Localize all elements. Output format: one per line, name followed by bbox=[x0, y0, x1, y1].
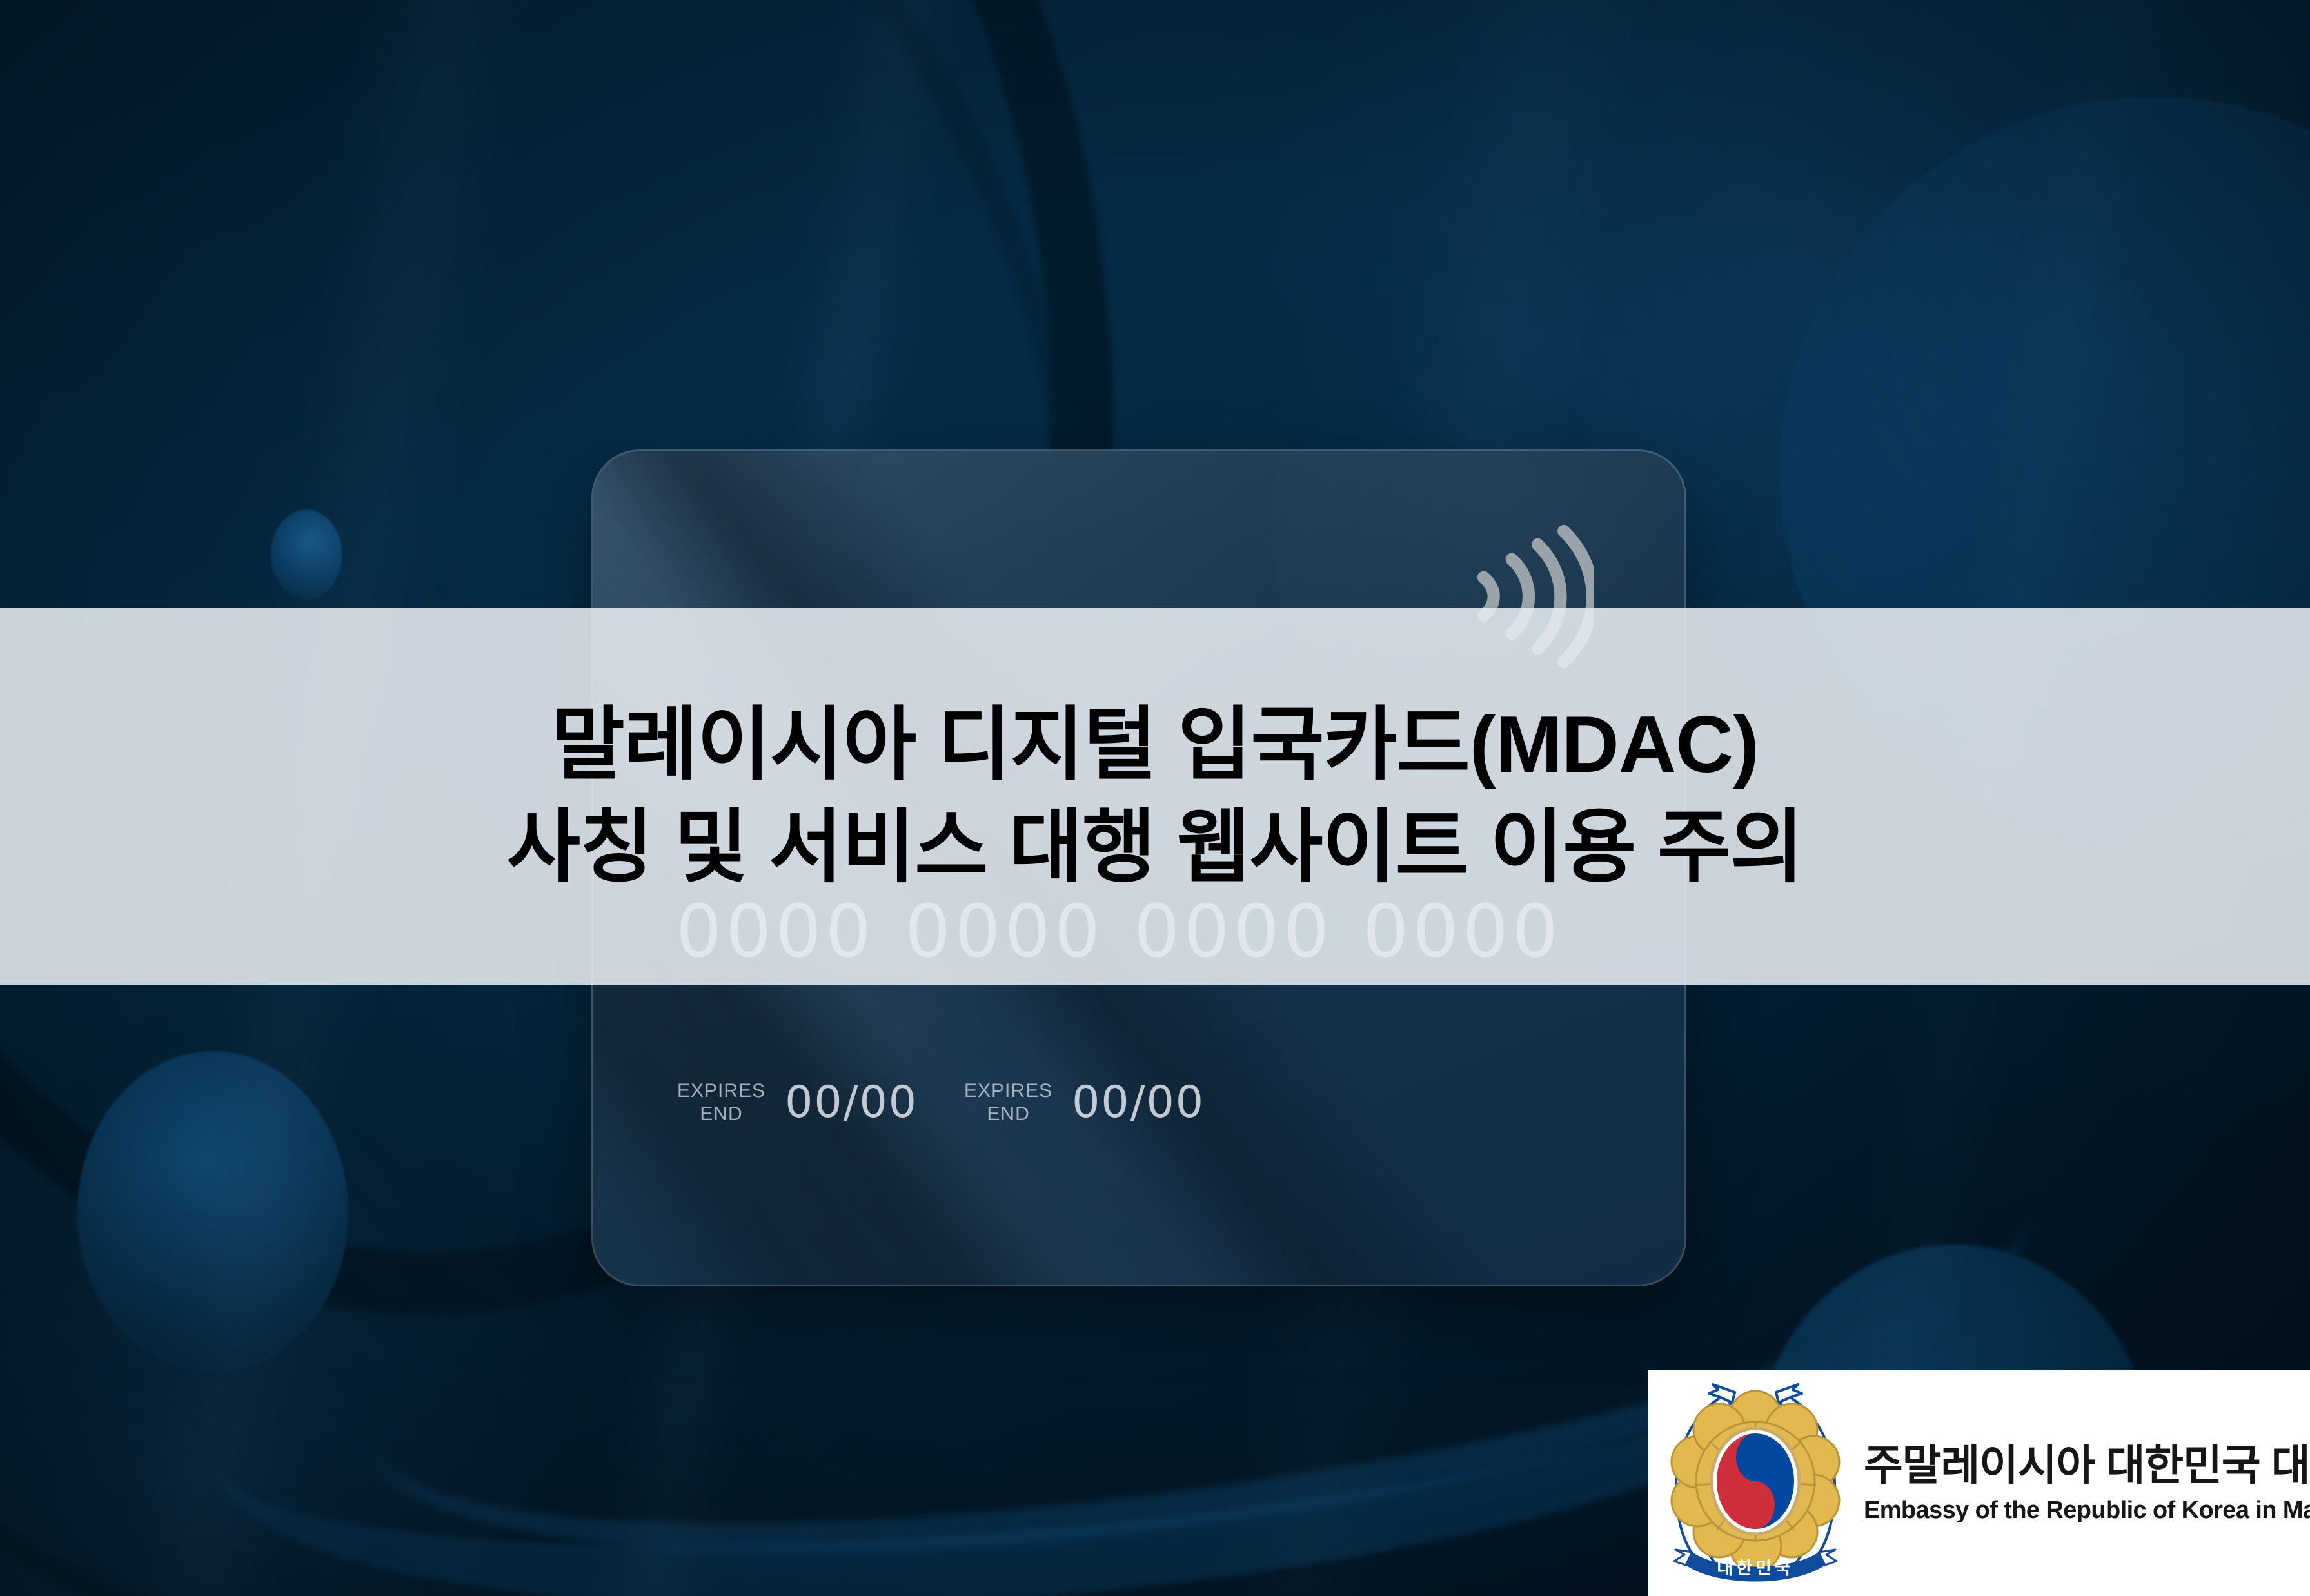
card-expiry-block: EXPIRES END 00/00 bbox=[964, 1077, 1205, 1128]
card-expiry-label-line2: END bbox=[964, 1103, 1052, 1125]
svg-text:대한민국: 대한민국 bbox=[1717, 1559, 1793, 1578]
card-expiry-label-line1: EXPIRES bbox=[677, 1079, 765, 1102]
card-expiry-row: EXPIRES END 00/00 EXPIRES END 00/00 bbox=[677, 1077, 1205, 1128]
card-expiry-value: 00/00 bbox=[785, 1077, 918, 1128]
banner-image: 0000000000000000 EXPIRES END 00/00 EXPIR… bbox=[0, 0, 2310, 1596]
embassy-title-ko: 주말레이시아 대한민국 대사관 bbox=[1864, 1444, 2310, 1486]
korea-national-emblem-icon: 대한민국 bbox=[1659, 1377, 1852, 1590]
card-expiry-label: EXPIRES END bbox=[964, 1079, 1052, 1125]
title-band: 말레이시아 디지털 입국카드(MDAC) 사칭 및 서비스 대행 웹사이트 이용… bbox=[0, 608, 2310, 985]
card-expiry-label-line1: EXPIRES bbox=[964, 1079, 1052, 1102]
embassy-title-en: Embassy of the Republic of Korea in Mala… bbox=[1864, 1498, 2310, 1522]
banner-title-line-1: 말레이시아 디지털 입국카드(MDAC) bbox=[551, 696, 1759, 794]
embassy-logo-text: 주말레이시아 대한민국 대사관 Embassy of the Republic … bbox=[1864, 1444, 2310, 1522]
embassy-logo-box: 대한민국 주말레이시아 대한민국 대사관 Embassy of the Repu… bbox=[1648, 1370, 2310, 1596]
card-expiry-block: EXPIRES END 00/00 bbox=[677, 1077, 918, 1128]
card-expiry-value: 00/00 bbox=[1072, 1077, 1205, 1128]
card-expiry-label: EXPIRES END bbox=[677, 1079, 765, 1125]
card-expiry-label-line2: END bbox=[677, 1103, 765, 1125]
banner-title-line-2: 사칭 및 서비스 대행 웹사이트 이용 주의 bbox=[507, 799, 1803, 896]
